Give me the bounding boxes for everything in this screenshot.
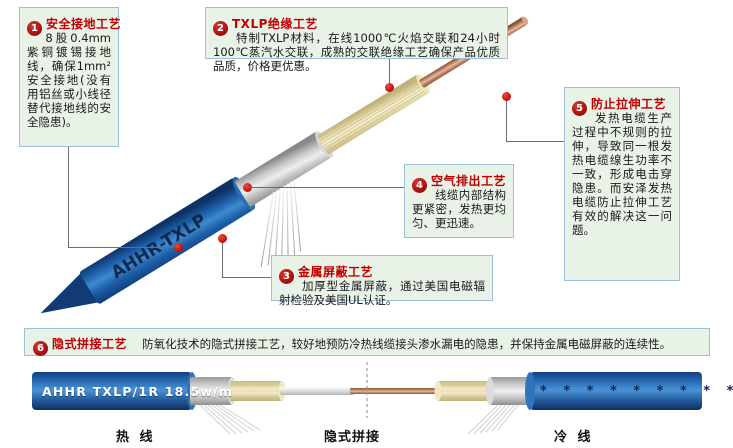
leader-5-vertical xyxy=(506,96,507,142)
callout-5: 5防止拉伸工艺 发热电缆生产过程中不规则的拉伸，导致同一根发热电缆缐生功率不一致… xyxy=(564,87,680,281)
callout-6: 6隐式拼接工艺 防氧化技术的隐式拼接工艺，较好地预防冷热线缆接头渗水漏电的隐患，… xyxy=(24,328,710,356)
anchor-dot-3 xyxy=(218,234,227,243)
callout-4-title: 空气排出工艺 xyxy=(431,174,506,188)
hidden-splice-joint xyxy=(350,362,442,418)
callout-1-head: 1安全接地工艺 xyxy=(27,13,111,30)
callout-6-head: 6隐式拼接工艺 xyxy=(33,333,127,350)
cable-insulation-cream xyxy=(317,72,433,155)
callout-4-badge: 4 xyxy=(412,178,427,193)
callout-3-body: 加厚型金属屏蔽，通过美国电磁辐射检验及美国UL认证。 xyxy=(279,279,485,307)
callout-2: 2TXLP绝缘工艺 特制TXLP材料，在线1000℃火焰交联和24小时100℃蒸… xyxy=(205,7,508,59)
caption-hidden-splice: 隐式拼接 xyxy=(324,426,380,445)
callout-3-title: 金属屏蔽工艺 xyxy=(298,265,373,279)
callout-1-body: 8股0.4mm紫铜镀锡接地线，确保1mm²安全接地(没有用铝丝或小线径替代接地线… xyxy=(27,31,111,129)
cold-line-jacket-label: * * * * * * * * * * xyxy=(540,384,733,399)
leader-1-vertical xyxy=(68,147,69,247)
caption-cold-line: 冷 线 xyxy=(554,426,594,445)
callout-5-body: 发热电缆生产过程中不规则的拉伸，导致同一根发热电缆缐生功率不一致，形成电击穿隐患… xyxy=(572,111,672,237)
leader-3-horizontal xyxy=(222,277,271,278)
callout-1-badge: 1 xyxy=(27,21,42,36)
anchor-dot-2 xyxy=(385,83,394,92)
leader-4-horizontal xyxy=(330,187,404,188)
callout-2-head: 2TXLP绝缘工艺 xyxy=(213,13,500,30)
callout-2-title: TXLP绝缘工艺 xyxy=(232,17,318,31)
diagram-canvas: AHHR-TXLP 1安全接地工艺 8股0.4mm紫铜镀锡接地线，确保1mm²安… xyxy=(0,0,733,448)
callout-3-badge: 3 xyxy=(279,269,294,284)
hot-line-jacket-label: AHHR TXLP/1R 18.5w/m xyxy=(42,384,233,399)
caption-hot-line: 热 线 xyxy=(116,426,156,445)
callout-5-badge: 5 xyxy=(572,101,587,116)
callout-4-head: 4空气排出工艺 xyxy=(412,170,506,187)
callout-2-body: 特制TXLP材料，在线1000℃火焰交联和24小时100℃蒸汽水交联，成熟的交联… xyxy=(213,31,500,73)
hot-line-segment xyxy=(32,372,354,434)
leader-5-horizontal xyxy=(506,141,564,142)
callout-5-title: 防止拉伸工艺 xyxy=(591,97,666,111)
callout-6-badge: 6 xyxy=(33,341,48,356)
leader-1-horizontal xyxy=(68,247,178,248)
callout-2-badge: 2 xyxy=(213,21,228,36)
leader-3-vertical xyxy=(222,238,223,278)
bottom-cable-panel: AHHR TXLP/1R 18.5w/m * * * * * * * * * *… xyxy=(24,360,710,448)
cold-line-segment xyxy=(435,372,703,434)
callout-5-head: 5防止拉伸工艺 xyxy=(572,93,672,110)
anchor-dot-5 xyxy=(502,92,511,101)
callout-1: 1安全接地工艺 8股0.4mm紫铜镀锡接地线，确保1mm²安全接地(没有用铝丝或… xyxy=(19,7,119,147)
callout-6-body: 防氧化技术的隐式拼接工艺，较好地预防冷热线缆接头渗水漏电的隐患，并保持金属电磁屏… xyxy=(142,337,671,351)
callout-4-body: 线缆内部结构更紧密，发热更均匀、更迅速。 xyxy=(412,188,506,230)
leader-4-horizontal-b xyxy=(247,187,331,188)
callout-4: 4空气排出工艺 线缆内部结构更紧密，发热更均匀、更迅速。 xyxy=(404,164,514,238)
callout-3: 3金属屏蔽工艺 加厚型金属屏蔽，通过美国电磁辐射检验及美国UL认证。 xyxy=(271,255,493,301)
callout-3-head: 3金属屏蔽工艺 xyxy=(279,261,485,278)
anchor-dot-1 xyxy=(174,243,183,252)
callout-6-title: 隐式拼接工艺 xyxy=(52,337,127,351)
callout-1-title: 安全接地工艺 xyxy=(46,17,121,31)
